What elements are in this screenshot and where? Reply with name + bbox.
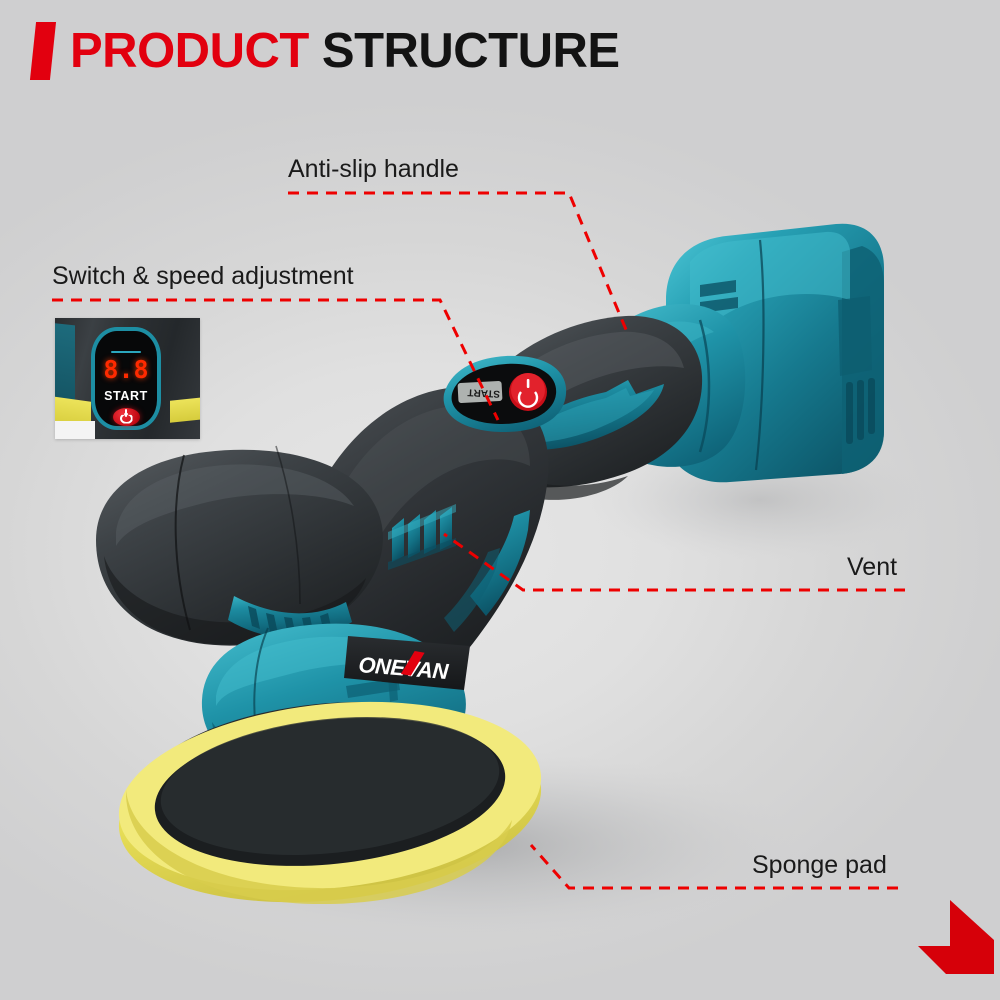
callout-label-switch-speed: Switch & speed adjustment <box>52 262 354 291</box>
callout-label-vent: Vent <box>847 553 897 582</box>
switch-detail-inset: 8.8 START <box>55 318 200 439</box>
speed-display-value: 8.8 <box>103 357 148 382</box>
panel-indicator-line <box>111 351 141 353</box>
speed-display: 8.8 <box>103 357 148 382</box>
control-panel[interactable]: 8.8 START <box>91 327 161 430</box>
power-icon <box>120 411 133 424</box>
callout-label-sponge-pad: Sponge pad <box>752 851 887 880</box>
start-label: START <box>104 389 148 403</box>
callout-leader-lines <box>0 0 1000 1000</box>
infographic-canvas: PRODUCT STRUCTURE <box>0 0 1000 1000</box>
callout-label-anti-slip-handle: Anti-slip handle <box>288 155 459 184</box>
inset-white-edge <box>55 421 95 439</box>
power-button[interactable] <box>113 408 140 426</box>
leader-vent <box>444 534 905 590</box>
corner-arrow-icon <box>890 888 1000 978</box>
inset-pad-accent-right <box>170 397 200 423</box>
